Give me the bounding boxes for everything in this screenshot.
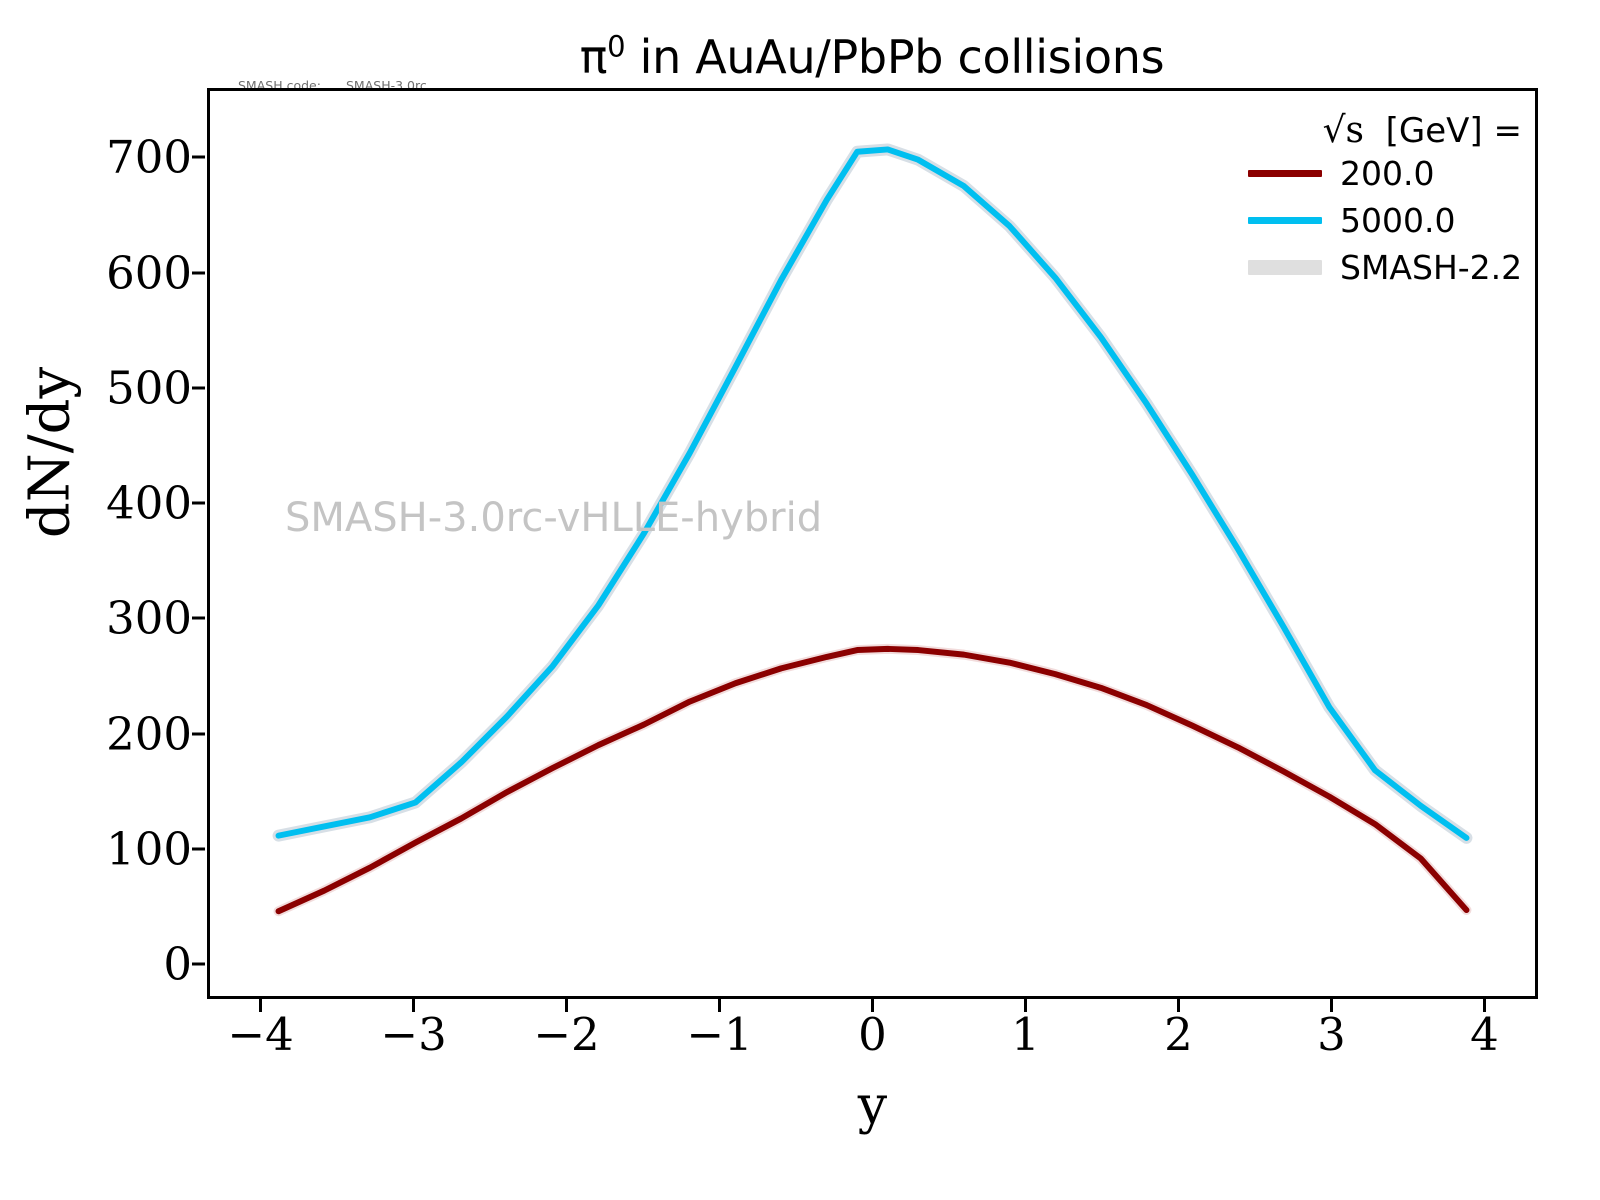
- legend-label: 5000.0: [1340, 201, 1455, 240]
- legend-title-units: [GeV] =: [1386, 111, 1522, 151]
- x-tick-label: −4: [201, 1008, 321, 1061]
- legend: √s [GeV] = 200.05000.0SMASH-2.2: [1248, 112, 1526, 291]
- x-tick-label: 3: [1271, 1008, 1391, 1061]
- legend-label: SMASH-2.2: [1340, 248, 1522, 287]
- legend-entry[interactable]: SMASH-2.2: [1248, 244, 1526, 291]
- x-tick-label: −1: [660, 1008, 780, 1061]
- chart-page: SMASH code:SMASH-3.0rc SMASH analysis:SM…: [0, 0, 1600, 1200]
- x-tick-label: 2: [1118, 1008, 1238, 1061]
- y-tick-label: 200: [32, 707, 192, 760]
- y-tick-mark: [192, 963, 205, 966]
- y-tick-label: 100: [32, 823, 192, 876]
- legend-entry[interactable]: 5000.0: [1248, 197, 1526, 244]
- y-axis-ticks: 0100200300400500600700: [0, 0, 192, 1200]
- y-tick-label: 500: [32, 361, 192, 414]
- uncertainty-band: [279, 649, 1467, 911]
- y-tick-label: 400: [32, 477, 192, 530]
- legend-swatch: [1248, 260, 1322, 275]
- y-tick-mark: [192, 617, 205, 620]
- legend-swatch: [1248, 217, 1322, 224]
- y-tick-label: 600: [32, 246, 192, 299]
- title-text: in AuAu/PbPb collisions: [640, 30, 1165, 84]
- legend-swatch: [1248, 170, 1322, 177]
- title-particle-superscript: 0: [607, 30, 625, 64]
- y-tick-label: 700: [32, 131, 192, 184]
- y-tick-mark: [192, 271, 205, 274]
- x-tick-label: −2: [507, 1008, 627, 1061]
- x-tick-label: 1: [965, 1008, 1085, 1061]
- title-particle-symbol: π: [580, 30, 607, 84]
- legend-title: √s [GeV] =: [1248, 112, 1526, 150]
- legend-entries: 200.05000.0SMASH-2.2: [1248, 150, 1526, 291]
- x-tick-label: −3: [354, 1008, 474, 1061]
- y-tick-mark: [192, 502, 205, 505]
- legend-label: 200.0: [1340, 154, 1434, 193]
- data-line-200.0: [279, 649, 1467, 911]
- x-axis-label: y: [207, 1076, 1538, 1136]
- y-tick-label: 0: [32, 938, 192, 991]
- x-tick-label: 4: [1424, 1008, 1544, 1061]
- y-tick-label: 300: [32, 592, 192, 645]
- chart-title: π0 in AuAu/PbPb collisions: [207, 30, 1537, 84]
- y-tick-mark: [192, 848, 205, 851]
- y-tick-mark: [192, 156, 205, 159]
- y-tick-mark: [192, 732, 205, 735]
- legend-sqrt-s-symbol: √s: [1323, 110, 1364, 151]
- x-tick-label: 0: [813, 1008, 933, 1061]
- y-tick-mark: [192, 386, 205, 389]
- legend-entry[interactable]: 200.0: [1248, 150, 1526, 197]
